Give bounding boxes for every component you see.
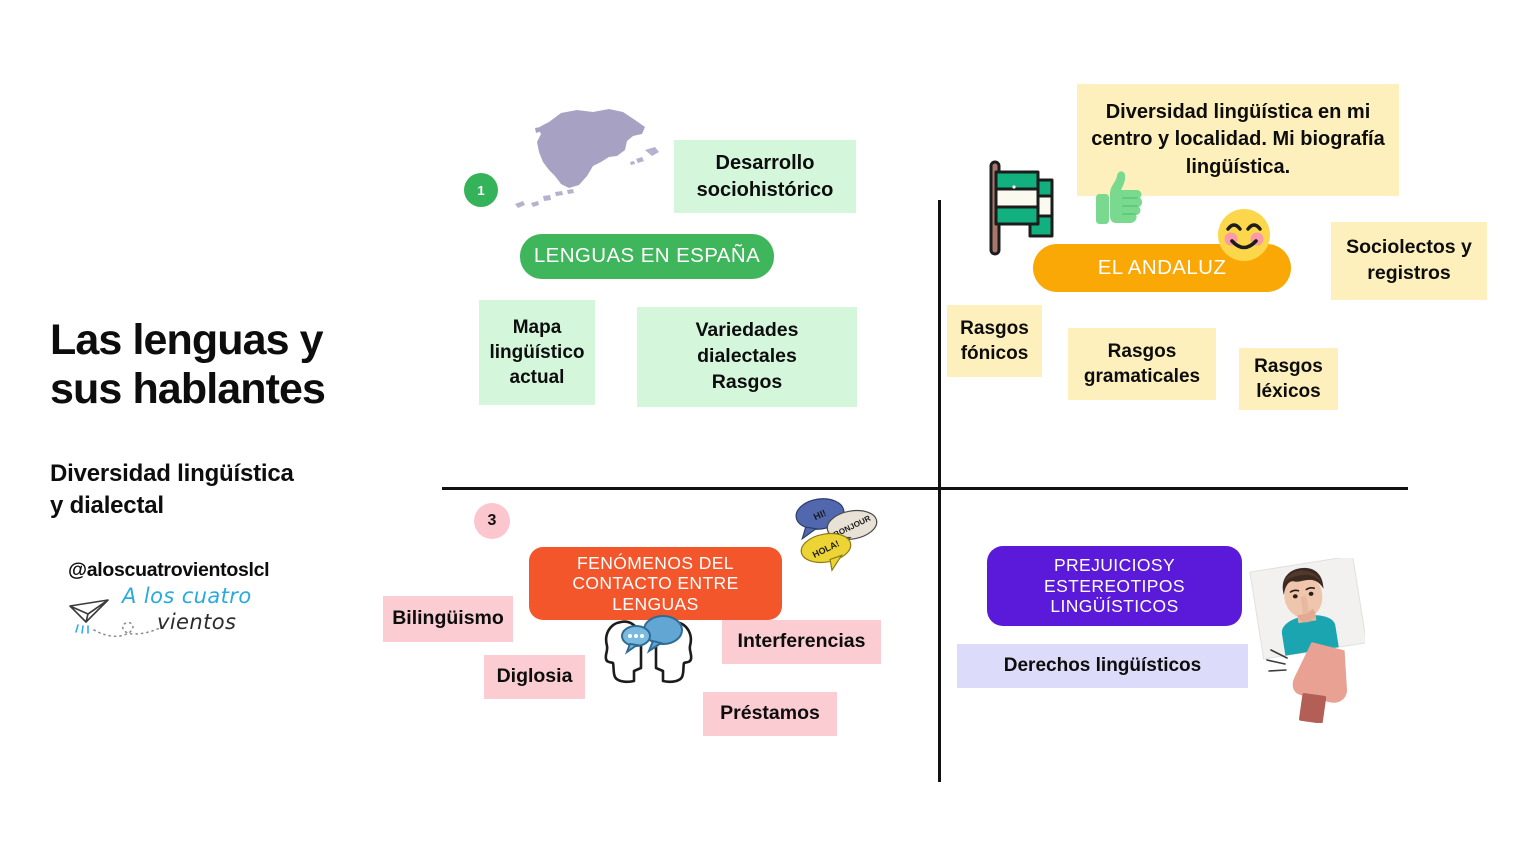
pill-lenguas-en-espana[interactable]: LENGUAS EN ESPAÑA — [520, 234, 774, 279]
note-diglosia[interactable]: Diglosia — [484, 655, 585, 699]
divider-vertical — [938, 200, 941, 782]
divider-horizontal — [442, 487, 1408, 490]
badge-number-1: 1 — [464, 173, 498, 207]
smiling-face-icon — [1216, 207, 1272, 263]
shushing-person-megaphone-icon — [1245, 558, 1365, 723]
page-subtitle: Diversidad lingüística y dialectal — [50, 458, 410, 521]
logo-line-2: vientos — [157, 610, 236, 634]
spain-map-icon — [505, 100, 675, 220]
note-prestamos[interactable]: Préstamos — [703, 692, 837, 736]
talking-heads-icon — [601, 613, 696, 691]
note-bilinguismo[interactable]: Bilingüismo — [383, 596, 513, 642]
pill-fenomenos-contacto-lenguas[interactable]: FENÓMENOS DEL CONTACTO ENTRE LENGUAS — [529, 547, 782, 620]
badge-number-3: 3 — [474, 503, 510, 539]
brand-logo: A los cuatro vientos — [64, 588, 254, 644]
social-handle: @aloscuatrovientoslcl — [68, 559, 410, 582]
pill-prejuicios-estereotipos-linguisticos[interactable]: PREJUICIOSY ESTEREOTIPOS LINGÜÍSTICOS — [987, 546, 1242, 626]
page-title: Las lenguas y sus hablantes — [50, 316, 410, 414]
title-block: Las lenguas y sus hablantes Diversidad l… — [50, 316, 410, 644]
note-rasgos-gramaticales[interactable]: Rasgos gramaticales — [1068, 328, 1216, 400]
note-sociolectos-y-registros[interactable]: Sociolectos y registros — [1331, 222, 1487, 300]
note-mapa-linguistico-actual[interactable]: Mapa lingüístico actual — [479, 300, 595, 405]
speech-bubbles-languages-icon: HI! BONJOUR HOLA! — [790, 494, 882, 572]
note-rasgos-fonicos[interactable]: Rasgos fónicos — [947, 305, 1042, 377]
thumbs-up-icon — [1092, 168, 1148, 230]
note-desarrollo-sociohistorico[interactable]: Desarrollo sociohistórico — [674, 140, 856, 213]
andalusia-flag-icon — [983, 158, 1068, 258]
note-rasgos-lexicos[interactable]: Rasgos léxicos — [1239, 348, 1338, 410]
note-interferencias[interactable]: Interferencias — [722, 620, 881, 664]
slide-canvas: Las lenguas y sus hablantes Diversidad l… — [0, 0, 1536, 864]
logo-line-1: A los cuatro — [122, 584, 252, 608]
note-derechos-linguisticos[interactable]: Derechos lingüísticos — [957, 644, 1248, 688]
note-variedades-dialectales[interactable]: Variedades dialectales Rasgos — [637, 307, 857, 407]
